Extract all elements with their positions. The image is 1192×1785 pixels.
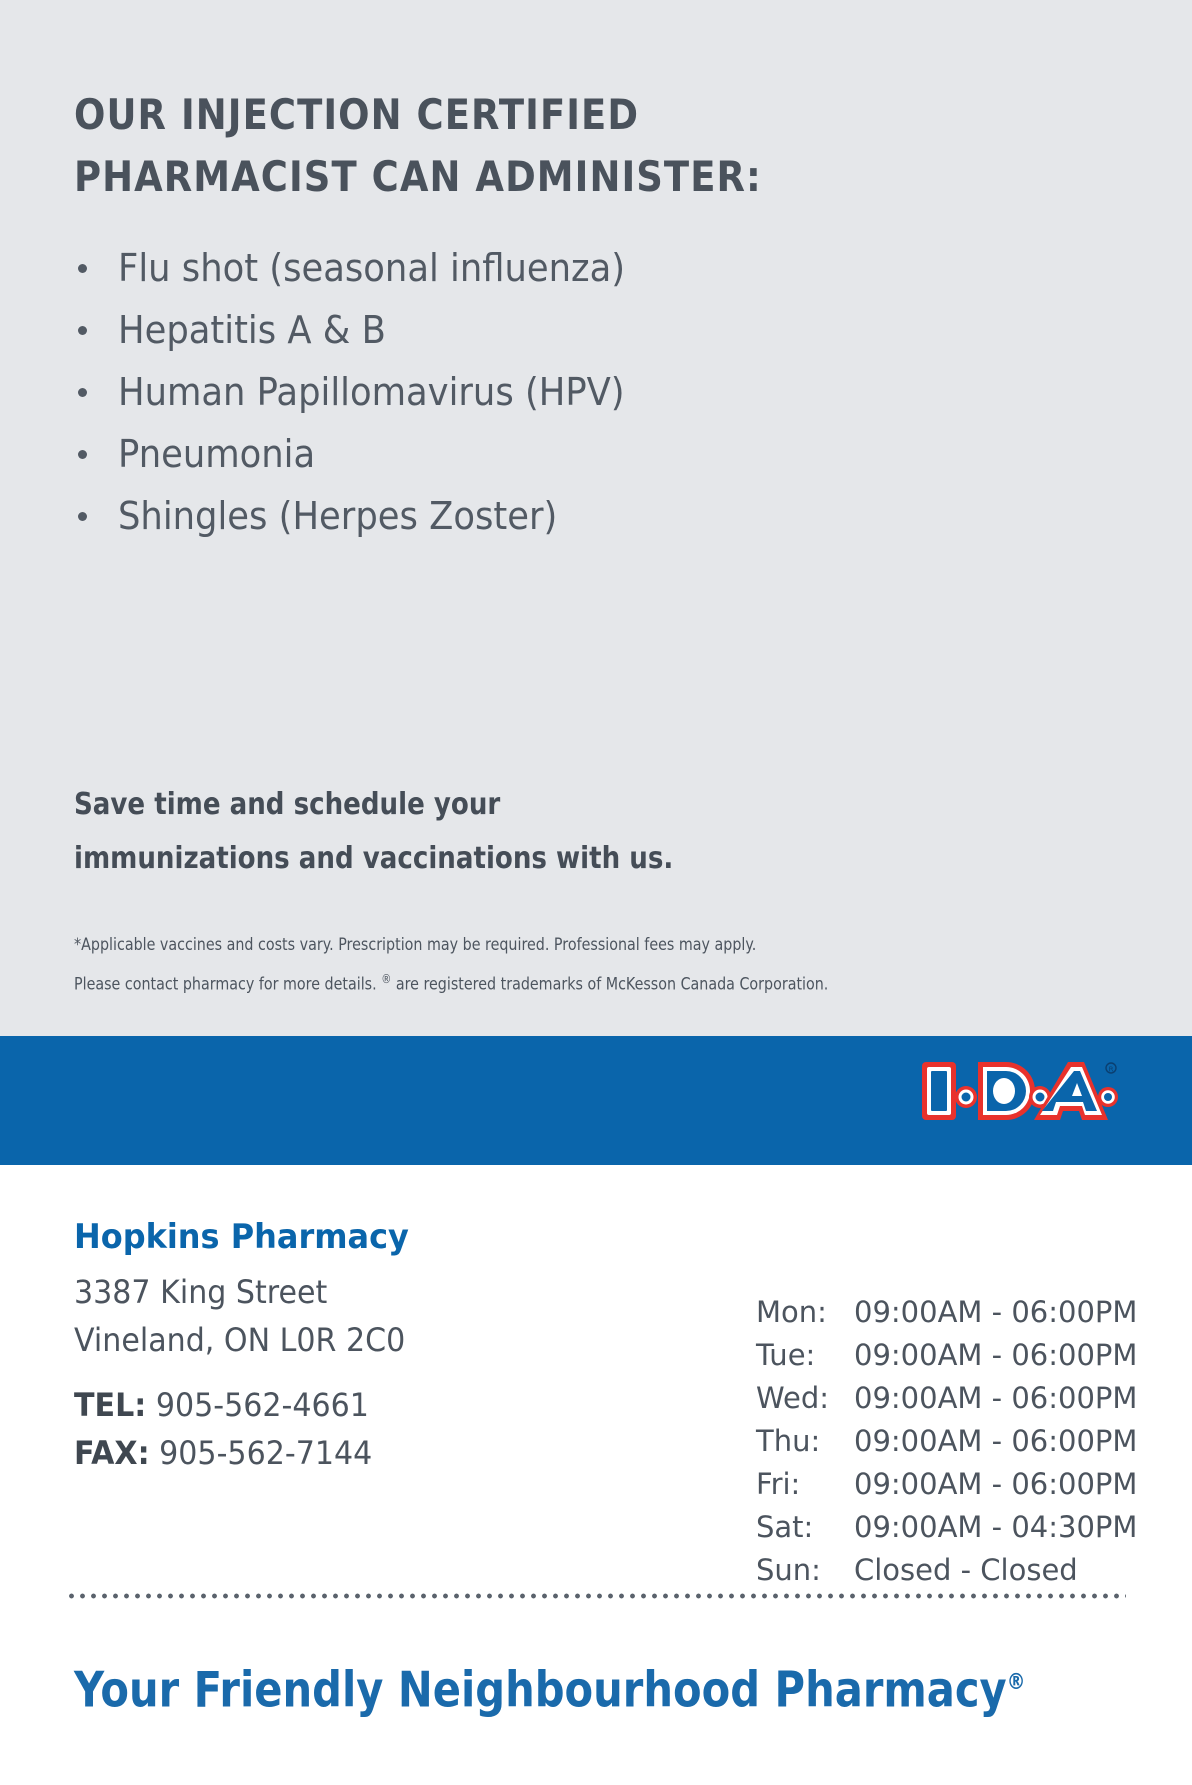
hours-day-label: Sat:	[756, 1506, 854, 1549]
brand-tagline-text: Your Friendly Neighbourhood Pharmacy	[74, 1661, 1007, 1718]
list-item: Flu shot (seasonal influenza)	[74, 237, 974, 299]
hours-time-value: 09:00AM - 06:00PM	[854, 1334, 1137, 1377]
disclaimer-text: *Applicable vaccines and costs vary. Pre…	[74, 928, 1124, 1002]
bullet-icon	[78, 388, 87, 397]
hours-time-value: 09:00AM - 06:00PM	[854, 1377, 1137, 1420]
address-line-2: Vineland, ON L0R 2C0	[74, 1316, 405, 1364]
ida-logo-icon: R	[918, 1056, 1118, 1128]
registered-trademark-mark: ®	[1007, 1670, 1026, 1695]
cta-line-2: immunizations and vaccinations with us.	[74, 832, 822, 886]
dotted-divider	[66, 1593, 1126, 1599]
hours-row: Fri: 09:00AM - 06:00PM	[756, 1463, 1137, 1506]
hours-day-label: Sun:	[756, 1549, 854, 1592]
hours-day-label: Wed:	[756, 1377, 854, 1420]
vaccine-label: Flu shot (seasonal influenza)	[118, 237, 625, 299]
bullet-icon	[78, 450, 87, 459]
hours-time-value: 09:00AM - 06:00PM	[854, 1420, 1137, 1463]
vaccine-label: Pneumonia	[118, 423, 315, 485]
hours-day-label: Tue:	[756, 1334, 854, 1377]
page-title-line-1: OUR INJECTION CERTIFIED	[74, 84, 831, 146]
vaccine-label: Shingles (Herpes Zoster)	[118, 485, 557, 547]
list-item: Human Papillomavirus (HPV)	[74, 361, 974, 423]
bullet-icon	[78, 326, 87, 335]
list-item: Shingles (Herpes Zoster)	[74, 485, 974, 547]
disclaimer-line-1: *Applicable vaccines and costs vary. Pre…	[74, 928, 956, 962]
bullet-icon	[78, 512, 87, 521]
list-item: Pneumonia	[74, 423, 974, 485]
store-contact: TEL: 905-562-4661 FAX: 905-562-7144	[74, 1381, 391, 1477]
brand-band: R	[0, 1036, 1192, 1165]
brand-tagline: Your Friendly Neighbourhood Pharmacy®	[74, 1650, 1025, 1723]
vaccine-list: Flu shot (seasonal influenza) Hepatitis …	[74, 237, 974, 547]
hours-time-value: Closed - Closed	[854, 1549, 1078, 1592]
hours-row: Wed: 09:00AM - 06:00PM	[756, 1377, 1137, 1420]
store-name: Hopkins Pharmacy	[74, 1216, 409, 1258]
page-title-line-2: PHARMACIST CAN ADMINISTER:	[74, 146, 831, 208]
page-title: OUR INJECTION CERTIFIED PHARMACIST CAN A…	[74, 84, 831, 208]
disclaimer-line-2-part-1: Please contact pharmacy for more details…	[74, 975, 381, 995]
store-hours: Mon: 09:00AM - 06:00PM Tue: 09:00AM - 06…	[756, 1291, 1137, 1592]
bullet-icon	[78, 264, 87, 273]
vaccine-label: Hepatitis A & B	[118, 299, 386, 361]
hours-row: Thu: 09:00AM - 06:00PM	[756, 1420, 1137, 1463]
flyer-page: OUR INJECTION CERTIFIED PHARMACIST CAN A…	[0, 0, 1192, 1785]
cta-line-1: Save time and schedule your	[74, 778, 822, 832]
list-item: Hepatitis A & B	[74, 299, 974, 361]
hours-row: Tue: 09:00AM - 06:00PM	[756, 1334, 1137, 1377]
hours-row: Sun: Closed - Closed	[756, 1549, 1137, 1592]
store-address: 3387 King Street Vineland, ON L0R 2C0	[74, 1268, 426, 1364]
hours-time-value: 09:00AM - 04:30PM	[854, 1506, 1137, 1549]
registered-trademark-mark: ®	[381, 972, 391, 986]
fax-value: 905-562-7144	[159, 1434, 372, 1472]
svg-text:R: R	[1109, 1066, 1114, 1074]
hours-time-value: 09:00AM - 06:00PM	[854, 1291, 1137, 1334]
fax-label: FAX:	[74, 1434, 150, 1472]
hours-row: Sat: 09:00AM - 04:30PM	[756, 1506, 1137, 1549]
hours-day-label: Fri:	[756, 1463, 854, 1506]
telephone-value[interactable]: 905-562-4661	[156, 1386, 369, 1424]
telephone-line: TEL: 905-562-4661	[74, 1381, 372, 1429]
vaccination-info-panel: OUR INJECTION CERTIFIED PHARMACIST CAN A…	[0, 0, 1192, 1036]
hours-row: Mon: 09:00AM - 06:00PM	[756, 1291, 1137, 1334]
hours-time-value: 09:00AM - 06:00PM	[854, 1463, 1137, 1506]
hours-day-label: Mon:	[756, 1291, 854, 1334]
call-to-action-text: Save time and schedule your immunization…	[74, 778, 934, 886]
vaccine-label: Human Papillomavirus (HPV)	[118, 361, 625, 423]
hours-day-label: Thu:	[756, 1420, 854, 1463]
fax-line: FAX: 905-562-7144	[74, 1429, 372, 1477]
address-line-1: 3387 King Street	[74, 1268, 405, 1316]
disclaimer-line-2-part-2: are registered trademarks of McKesson Ca…	[391, 975, 828, 995]
telephone-label: TEL:	[74, 1386, 146, 1424]
disclaimer-line-2: Please contact pharmacy for more details…	[74, 962, 956, 1002]
